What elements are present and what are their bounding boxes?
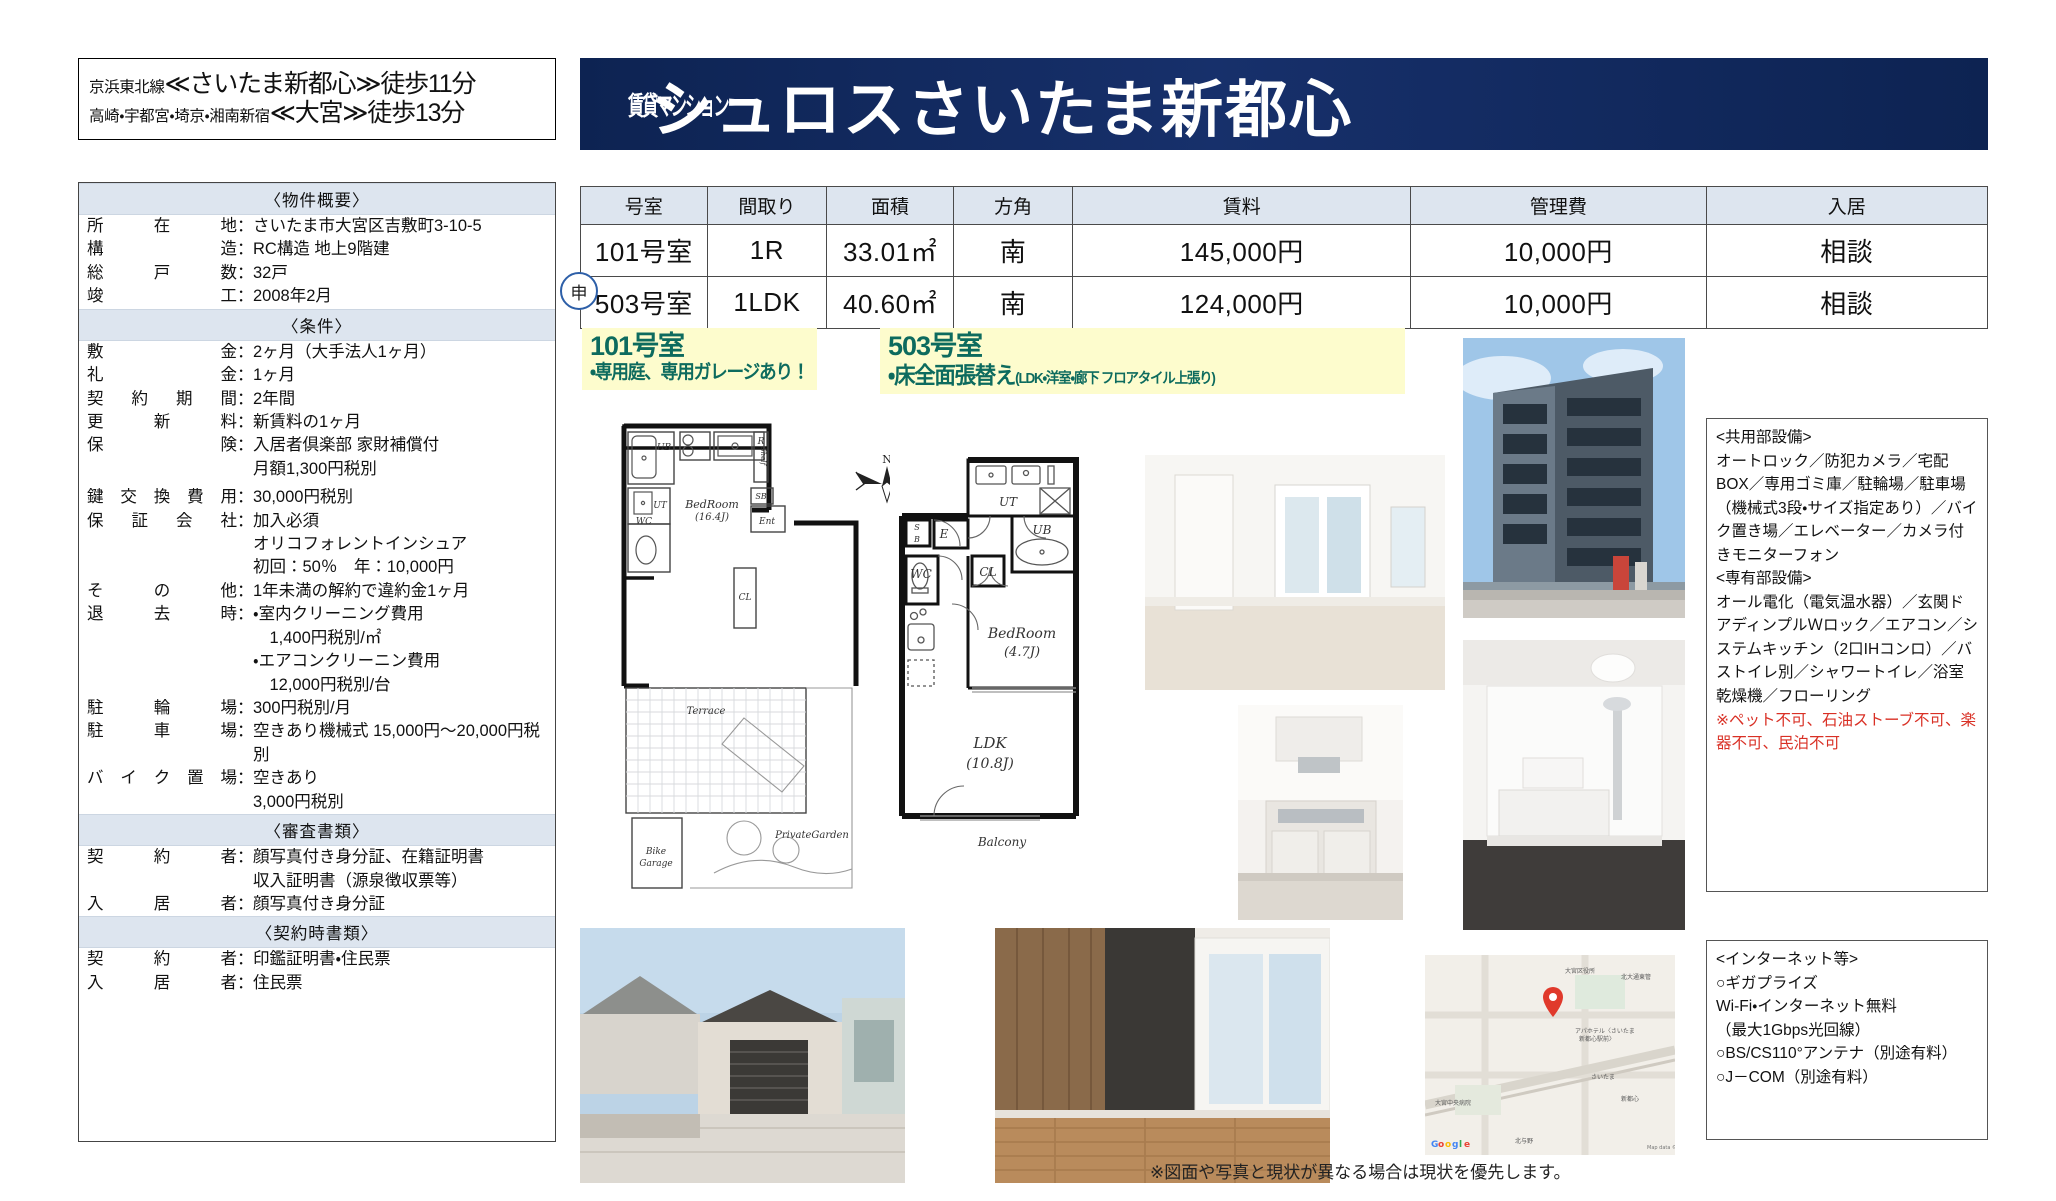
spec-row-colon: ： — [237, 341, 253, 364]
cell-layout: 1R — [707, 225, 827, 277]
spec-row-value: 1年未満の解約で違約金1ヶ月 — [253, 580, 555, 603]
cell-room: 101号室 — [581, 225, 708, 277]
spec-row: 初回：50％ 年：10,000円 — [79, 556, 555, 579]
access-walk: 徒歩11分 — [380, 70, 475, 100]
spec-row: 契約者：顔写真付き身分証、在籍証明書 — [79, 846, 555, 869]
spec-row-label: 退去時 — [87, 603, 237, 626]
internet-info-box: <インターネット等> ○ギガプライズWi-Fi・インターネット無料（最大1Gbp… — [1706, 940, 1988, 1140]
svg-text:Map data ©2025: Map data ©2025 — [1647, 1144, 1675, 1151]
cell-rent: 145,000円 — [1073, 225, 1411, 277]
units-col-1: 間取り — [707, 187, 827, 225]
callout-note: ・専用庭、専用ガレージあり！ — [590, 363, 794, 384]
units-col-2: 面積 — [827, 187, 954, 225]
spec-row-label: 敷金 — [87, 341, 237, 364]
spec-row: 月額1,300円税別 — [79, 458, 555, 481]
units-col-6: 入居 — [1706, 187, 1987, 225]
spec-row-colon: ： — [237, 767, 253, 790]
floorplan-101: BedRoom (16.4J) UB UT WC CL SB Ent Shelf… — [594, 418, 862, 896]
spec-row-value: 顔写真付き身分証 — [253, 893, 555, 916]
svg-text:UB: UB — [1033, 523, 1052, 537]
access-line-name: 高崎・宇都宮・埼京・湘南新宿 — [89, 108, 270, 126]
spec-row-value: 2ヶ月（大手法人1ヶ月） — [253, 341, 555, 364]
spec-row-colon: ： — [237, 411, 253, 434]
spec-row-label: 入居者 — [87, 972, 237, 995]
spec-row-value: 3,000円税別 — [253, 791, 555, 814]
internet-item: ○J－COM（別途有料） — [1716, 1066, 1978, 1090]
spec-row: 更新料：新賃料の1ヶ月 — [79, 411, 555, 434]
svg-text:アパホテル〈さいたま: アパホテル〈さいたま — [1575, 1028, 1635, 1035]
spec-row-colon: ： — [237, 697, 253, 720]
svg-text:E: E — [939, 527, 949, 541]
photo-entrance-garage — [580, 928, 905, 1183]
spec-section-heading: 〈審査書類〉 — [79, 814, 555, 846]
photo-bathroom — [1463, 640, 1685, 930]
cell-area: 33.01㎡ — [827, 225, 954, 277]
svg-text:(10.8J): (10.8J) — [966, 756, 1014, 772]
spec-row: 敷金：2ヶ月（大手法人1ヶ月） — [79, 341, 555, 364]
spec-section-heading: 〈契約時書類〉 — [79, 916, 555, 948]
access-line-name: 京浜東北線 — [89, 79, 165, 97]
spec-row: 礼金：1ヶ月 — [79, 364, 555, 387]
spec-row-label: 駐車場 — [87, 720, 237, 767]
svg-text:LDK: LDK — [972, 734, 1007, 752]
svg-text:PrivateGarden: PrivateGarden — [774, 830, 849, 841]
spec-row: 12,000円税別/台 — [79, 674, 555, 697]
callout-note-main: ・床全面張替え — [888, 362, 1015, 388]
internet-item: Wi-Fi・インターネット無料 — [1716, 995, 1978, 1019]
access-line-2: 高崎・宇都宮・埼京・湘南新宿 ≪大宮≫ 徒歩13分 — [89, 99, 545, 129]
spec-row: バイク置場：空きあり — [79, 767, 555, 790]
spec-row-value: 顔写真付き身分証、在籍証明書 — [253, 846, 555, 869]
spec-row-label: 竣工 — [87, 285, 237, 308]
svg-text:Balcony: Balcony — [977, 835, 1026, 849]
svg-text:R: R — [757, 437, 765, 447]
access-station: ≪大宮≫ — [270, 99, 368, 129]
svg-text:CL: CL — [979, 565, 996, 579]
spec-row: 駐輪場：300円税別/月 — [79, 697, 555, 720]
spec-row-colon: ： — [237, 364, 253, 387]
spec-row-label: 保険 — [87, 434, 237, 457]
spec-row-colon: ： — [237, 580, 253, 603]
internet-item: ○ギガプライズ — [1716, 972, 1978, 996]
cell-room: 503号室 — [581, 277, 708, 329]
spec-row-value: さいたま市大宮区吉敷町3-10-5 — [253, 215, 555, 238]
spec-row: 構造：RC構造 地上9階建 — [79, 238, 555, 261]
svg-text:Garage: Garage — [639, 859, 672, 869]
spec-row: 駐車場：空きあり機械式 15,000円〜20,000円税別 — [79, 720, 555, 767]
cell-availability: 相談 — [1706, 277, 1987, 329]
units-table-row[interactable]: 101号室1R33.01㎡南145,000円10,000円相談 — [581, 225, 1988, 277]
facilities-info-box: <共用部設備> オートロック／防犯カメラ／宅配BOX／専用ゴミ庫／駐輪場／駐車場… — [1706, 418, 1988, 892]
access-walk: 徒歩13分 — [367, 99, 464, 129]
floorplan-503: UT UB WC CL E S B BedRoom (4.7J) LDK (10… — [890, 448, 1120, 856]
spec-row: 3,000円税別 — [79, 791, 555, 814]
photo-location-map: 大宮区役所 北大通東管 アパホテル〈さいたま 新都心駅前〉 さいたま 新都心 大… — [1425, 955, 1675, 1155]
spec-row-label: 礼金 — [87, 364, 237, 387]
private-facilities-text: オール電化（電気温水器）／玄関ドアディンプルＷロック／エアコン／システムキッチン… — [1716, 591, 1978, 709]
spec-row-colon: ： — [237, 262, 253, 285]
svg-text:UB: UB — [657, 443, 672, 453]
spec-row: 鍵交換費用：30,000円税別 — [79, 486, 555, 509]
svg-text:北大通東管: 北大通東管 — [1621, 973, 1651, 981]
spec-row: 入居者：顔写真付き身分証 — [79, 893, 555, 916]
svg-text:WC: WC — [910, 567, 932, 581]
svg-text:Ent: Ent — [758, 517, 775, 527]
callout-title: 101号室 — [590, 332, 809, 361]
cell-area: 40.60㎡ — [827, 277, 954, 329]
svg-text:B: B — [913, 535, 920, 544]
banner-kicker: 賃貸マンション — [628, 86, 728, 123]
spec-row: 保証会社：加入必須 — [79, 510, 555, 533]
photo-building-exterior — [1463, 338, 1685, 618]
access-info-box: 京浜東北線 ≪さいたま新都心≫ 徒歩11分 高崎・宇都宮・埼京・湘南新宿 ≪大宮… — [78, 58, 556, 140]
svg-text:S: S — [914, 523, 920, 532]
units-col-4: 賃料 — [1073, 187, 1411, 225]
spec-row-value: 印鑑証明書・住民票 — [253, 948, 555, 971]
svg-text:(16.4J): (16.4J) — [695, 512, 729, 523]
spec-row-label: 駐輪場 — [87, 697, 237, 720]
spec-row-colon: ： — [237, 972, 253, 995]
svg-text:新都心: 新都心 — [1621, 1095, 1639, 1103]
access-station: ≪さいたま新都心≫ — [165, 70, 381, 100]
svg-text:北与野: 北与野 — [1515, 1137, 1533, 1145]
spec-row-colon: ： — [237, 434, 253, 457]
spec-row-label: 契約者 — [87, 948, 237, 971]
label-bedroom: BedRoom — [684, 498, 739, 511]
svg-text:e: e — [1464, 1140, 1470, 1150]
svg-text:UT: UT — [999, 495, 1018, 509]
spec-section-heading: 〈物件概要〉 — [79, 183, 555, 215]
internet-item: （最大1Gbps光回線） — [1716, 1019, 1978, 1043]
spec-row-value: ・室内クリーニング費用 — [253, 603, 555, 626]
callout-title: 503号室 — [888, 332, 1397, 361]
svg-text:大宮区役所: 大宮区役所 — [1565, 967, 1595, 975]
photo-room-interior — [995, 928, 1330, 1183]
svg-text:大宮中央病院: 大宮中央病院 — [1435, 1099, 1471, 1107]
svg-text:WC: WC — [636, 517, 652, 527]
svg-text:SB: SB — [755, 492, 766, 501]
spec-row: 所在地：さいたま市大宮区吉敷町3-10-5 — [79, 215, 555, 238]
spec-row-label: 契約期間 — [87, 388, 237, 411]
spec-row-label: 所在地 — [87, 215, 237, 238]
spec-row-colon: ： — [237, 285, 253, 308]
svg-text:Shelf: Shelf — [759, 447, 767, 467]
spec-row: ・エアコンクリーニン費用 — [79, 650, 555, 673]
spec-row-label: 更新料 — [87, 411, 237, 434]
spec-row-value: 1,400円税別/㎡ — [253, 627, 555, 650]
svg-text:BedRoom: BedRoom — [987, 626, 1056, 642]
spec-row-label: 保証会社 — [87, 510, 237, 533]
common-facilities-text: オートロック／防犯カメラ／宅配BOX／専用ゴミ庫／駐輪場／駐車場（機械式3段・サ… — [1716, 450, 1978, 568]
spec-row-label: 構造 — [87, 238, 237, 261]
spec-section-heading: 〈条件〉 — [79, 309, 555, 341]
spec-row-colon: ： — [237, 215, 253, 238]
spec-row-value: 収入証明書（源泉徴収票等） — [253, 870, 555, 893]
svg-text:(4.7J): (4.7J) — [1004, 645, 1040, 660]
spec-row-value: 1ヶ月 — [253, 364, 555, 387]
units-table-body: 101号室1R33.01㎡南145,000円10,000円相談503号室1LDK… — [581, 225, 1988, 329]
spec-row-value: 入居者倶楽部 家財補償付 — [253, 434, 555, 457]
spec-row-value: 30,000円税別 — [253, 486, 555, 509]
spec-row-value: オリコフォレントインシュア — [253, 533, 555, 556]
spec-row: 退去時：・室内クリーニング費用 — [79, 603, 555, 626]
spec-row-colon: ： — [237, 720, 253, 767]
photo-living-room — [1145, 455, 1445, 690]
spec-row-value: 月額1,300円税別 — [253, 458, 555, 481]
svg-text:新都心駅前〉: 新都心駅前〉 — [1579, 1035, 1615, 1043]
spec-row-colon: ： — [237, 948, 253, 971]
spec-row: 保険：入居者倶楽部 家財補償付 — [79, 434, 555, 457]
cell-rent: 124,000円 — [1073, 277, 1411, 329]
cell-direction: 南 — [953, 225, 1073, 277]
spec-row-value: 加入必須 — [253, 510, 555, 533]
svg-text:o: o — [1445, 1140, 1451, 1150]
units-table-row[interactable]: 503号室1LDK40.60㎡南124,000円10,000円相談 — [581, 277, 1988, 329]
spec-row-colon: ： — [237, 510, 253, 533]
spec-row: 総戸数：32戸 — [79, 262, 555, 285]
internet-item: ○BS/CS110°アンテナ（別途有料） — [1716, 1042, 1978, 1066]
spec-row-value: 空きあり — [253, 767, 555, 790]
spec-row-value: 12,000円税別/台 — [253, 674, 555, 697]
spec-row-value: 32戸 — [253, 262, 555, 285]
spec-row-label: 総戸数 — [87, 262, 237, 285]
units-col-3: 方角 — [953, 187, 1073, 225]
cell-management: 10,000円 — [1411, 277, 1706, 329]
svg-text:UT: UT — [653, 501, 668, 511]
spec-row-label: 鍵交換費用 — [87, 486, 237, 509]
spec-row: その他：1年未満の解約で違約金1ヶ月 — [79, 580, 555, 603]
spec-row: 収入証明書（源泉徴収票等） — [79, 870, 555, 893]
svg-text:Bike: Bike — [645, 847, 666, 857]
spec-row-value: RC構造 地上9階建 — [253, 238, 555, 261]
units-table: 号室間取り面積方角賃料管理費入居 101号室1R33.01㎡南145,000円1… — [580, 186, 1988, 329]
callout-note: ・床全面張替え(LDK・洋室・廊下 フロアタイル上張り) — [888, 363, 1361, 388]
cell-layout: 1LDK — [707, 277, 827, 329]
spec-row-value: 300円税別/月 — [253, 697, 555, 720]
cell-availability: 相談 — [1706, 225, 1987, 277]
callout-room-503: 503号室 ・床全面張替え(LDK・洋室・廊下 フロアタイル上張り) — [880, 328, 1405, 394]
svg-text:g: g — [1452, 1140, 1458, 1150]
title-banner: 賃貸マンション シュロスさいたま新都心 — [580, 58, 1988, 150]
cell-direction: 南 — [953, 277, 1073, 329]
restrictions-text: ※ペット不可、石油ストーブ不可、楽器不可、民泊不可 — [1716, 709, 1978, 756]
spec-row: 竣工：2008年2月 — [79, 285, 555, 308]
svg-text:Terrace: Terrace — [687, 706, 726, 717]
units-col-5: 管理費 — [1411, 187, 1706, 225]
callout-note-small: (LDK・洋室・廊下 フロアタイル上張り) — [1015, 371, 1215, 387]
spec-row-colon: ： — [237, 846, 253, 869]
photo-kitchen — [1238, 705, 1403, 920]
svg-text:l: l — [1459, 1140, 1462, 1150]
internet-heading: <インターネット等> — [1716, 948, 1978, 972]
spec-row-value: 空きあり機械式 15,000円〜20,000円税別 — [253, 720, 555, 767]
spec-row: 入居者：住民票 — [79, 972, 555, 995]
spec-row-colon: ： — [237, 238, 253, 261]
private-facilities-heading: <専有部設備> — [1716, 567, 1978, 591]
banner-title: シュロスさいたま新都心 — [651, 59, 1353, 149]
cell-management: 10,000円 — [1411, 225, 1706, 277]
spec-row-value: 新賃料の1ヶ月 — [253, 411, 555, 434]
spec-row-value: 2年間 — [253, 388, 555, 411]
svg-text:さいたま: さいたま — [1591, 1074, 1615, 1081]
applied-mark-badge: 申 — [560, 272, 598, 310]
spec-row-value: 初回：50％ 年：10,000円 — [253, 556, 555, 579]
spec-row-colon: ： — [237, 388, 253, 411]
spec-row: 1,400円税別/㎡ — [79, 627, 555, 650]
property-spec-table: 〈物件概要〉所在地：さいたま市大宮区吉敷町3-10-5構造：RC構造 地上9階建… — [78, 182, 556, 1142]
spec-row-label: バイク置場 — [87, 767, 237, 790]
units-table-header-row: 号室間取り面積方角賃料管理費入居 — [581, 187, 1988, 225]
spec-row-value: 2008年2月 — [253, 285, 555, 308]
spec-row-colon: ： — [237, 486, 253, 509]
access-line-1: 京浜東北線 ≪さいたま新都心≫ 徒歩11分 — [89, 70, 545, 100]
spec-row: 契約期間：2年間 — [79, 388, 555, 411]
svg-text:CL: CL — [739, 593, 752, 603]
spec-row-colon: ： — [237, 603, 253, 626]
spec-row-value: 住民票 — [253, 972, 555, 995]
internet-items-list: ○ギガプライズWi-Fi・インターネット無料（最大1Gbps光回線）○BS/CS… — [1716, 972, 1978, 1090]
callout-room-101: 101号室 ・専用庭、専用ガレージあり！ — [582, 328, 817, 390]
units-col-0: 号室 — [581, 187, 708, 225]
spec-row-label: 契約者 — [87, 846, 237, 869]
spec-row-label: 入居者 — [87, 893, 237, 916]
spec-row: オリコフォレントインシュア — [79, 533, 555, 556]
svg-text:o: o — [1438, 1140, 1444, 1150]
compass-503-icon — [854, 466, 884, 500]
spec-row-label: その他 — [87, 580, 237, 603]
spec-row: 契約者：印鑑証明書・住民票 — [79, 948, 555, 971]
disclaimer-text: ※図面や写真と現状が異なる場合は現状を優先します。 — [1150, 1158, 1571, 1183]
spec-row-colon: ： — [237, 893, 253, 916]
spec-row-value: ・エアコンクリーニン費用 — [253, 650, 555, 673]
common-facilities-heading: <共用部設備> — [1716, 426, 1978, 450]
